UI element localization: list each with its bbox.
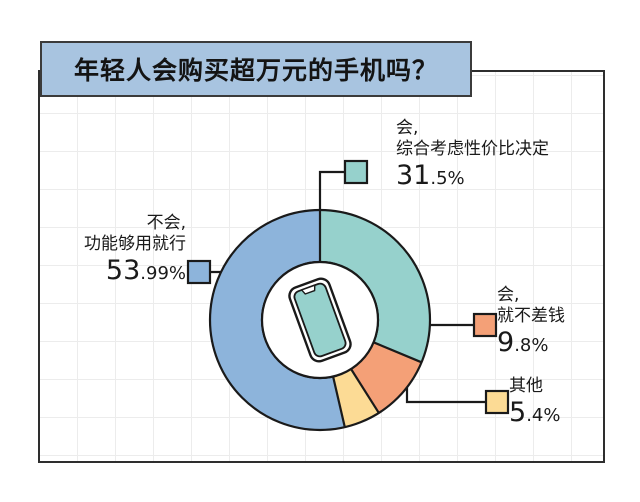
label-orange-line2: 就不差钱 — [497, 306, 565, 327]
swatch-orange[interactable] — [474, 314, 496, 336]
label-yellow: 其他 5.4% — [509, 376, 560, 431]
leader-line-yellow — [407, 367, 493, 402]
label-teal-line1: 会, — [396, 118, 549, 139]
label-yellow-value: 5.4% — [509, 397, 560, 431]
label-yellow-line1: 其他 — [509, 376, 560, 397]
label-orange-line1: 会, — [497, 285, 565, 306]
title-banner: 年轻人会购买超万元的手机吗？ — [40, 41, 472, 97]
label-blue: 不会, 功能够用就行 53.99% — [0, 213, 186, 289]
label-blue-line2: 功能够用就行 — [0, 234, 186, 255]
label-orange: 会, 就不差钱 9.8% — [497, 285, 565, 361]
page-title: 年轻人会购买超万元的手机吗？ — [74, 51, 438, 87]
label-blue-value: 53.99% — [0, 255, 186, 289]
label-orange-value: 9.8% — [497, 327, 565, 361]
segment-orange[interactable] — [365, 352, 398, 391]
swatch-teal[interactable] — [345, 161, 367, 183]
swatch-blue[interactable] — [188, 261, 210, 283]
label-teal-line2: 综合考虑性价比决定 — [396, 139, 549, 160]
label-blue-line1: 不会, — [0, 213, 186, 234]
segment-yellow[interactable] — [339, 391, 365, 402]
swatch-yellow[interactable] — [486, 391, 508, 413]
label-teal-value: 31.5% — [396, 160, 549, 194]
leader-line-teal — [320, 172, 345, 215]
label-teal: 会, 综合考虑性价比决定 31.5% — [396, 118, 549, 194]
